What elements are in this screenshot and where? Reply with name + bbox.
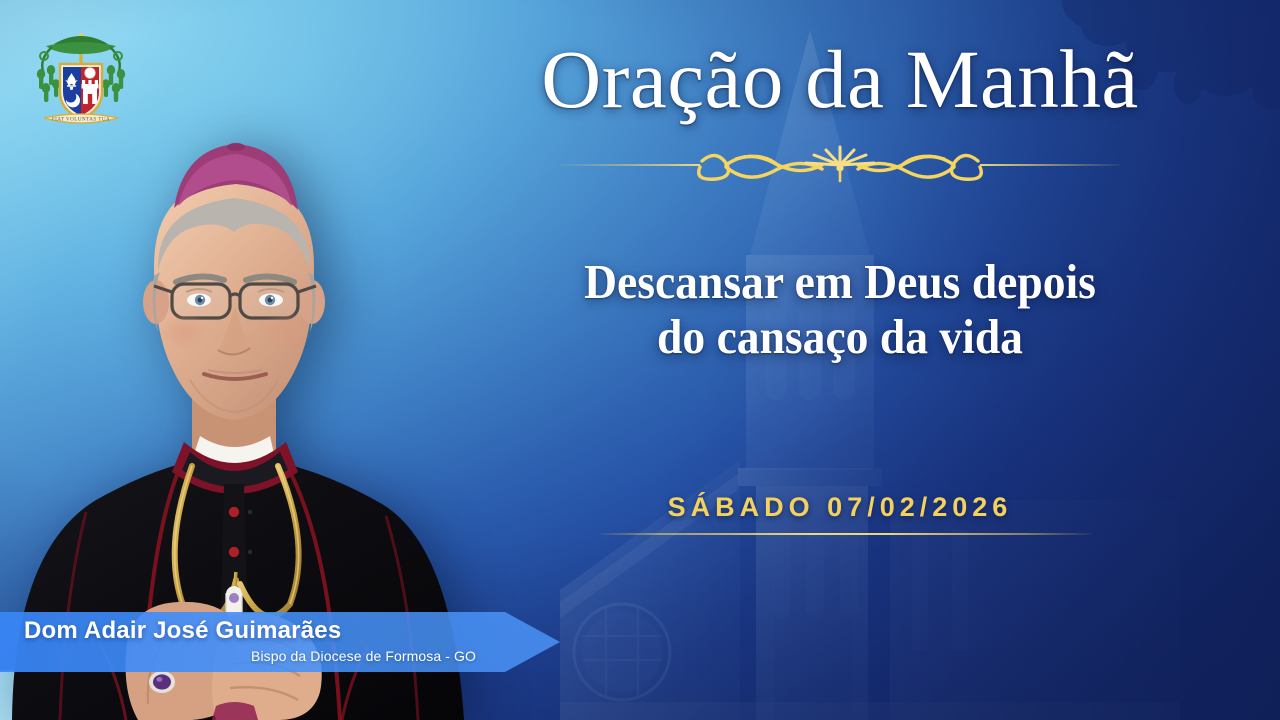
- date-underline: [600, 533, 1092, 535]
- date-label: SÁBADO 07/02/2026: [420, 492, 1260, 523]
- page-title: Oração da Manhã: [430, 38, 1250, 121]
- speaker-role: Bispo da Diocese de Formosa - GO: [24, 648, 476, 664]
- speaker-name: Dom Adair José Guimarães: [24, 617, 341, 645]
- prayer-card: FIAT VOLUNTAS TUA: [0, 0, 1280, 720]
- date-text: SÁBADO 07/02/2026: [668, 492, 1013, 522]
- prayer-subtitle: Descansar em Deus depois do cansaço da v…: [449, 255, 1230, 365]
- subtitle-line-1: Descansar em Deus depois: [584, 254, 1096, 309]
- gold-flourish-divider-icon: [430, 143, 1250, 187]
- page-title-text: Oração da Manhã: [430, 38, 1250, 121]
- subtitle-line-2: do cansaço da vida: [449, 310, 1230, 365]
- episcopal-coat-of-arms-icon: FIAT VOLUNTAS TUA: [28, 14, 134, 132]
- crest-motto: FIAT VOLUNTAS TUA: [52, 117, 110, 123]
- speaker-name-banner: Dom Adair José Guimarães Bispo da Dioces…: [0, 612, 560, 672]
